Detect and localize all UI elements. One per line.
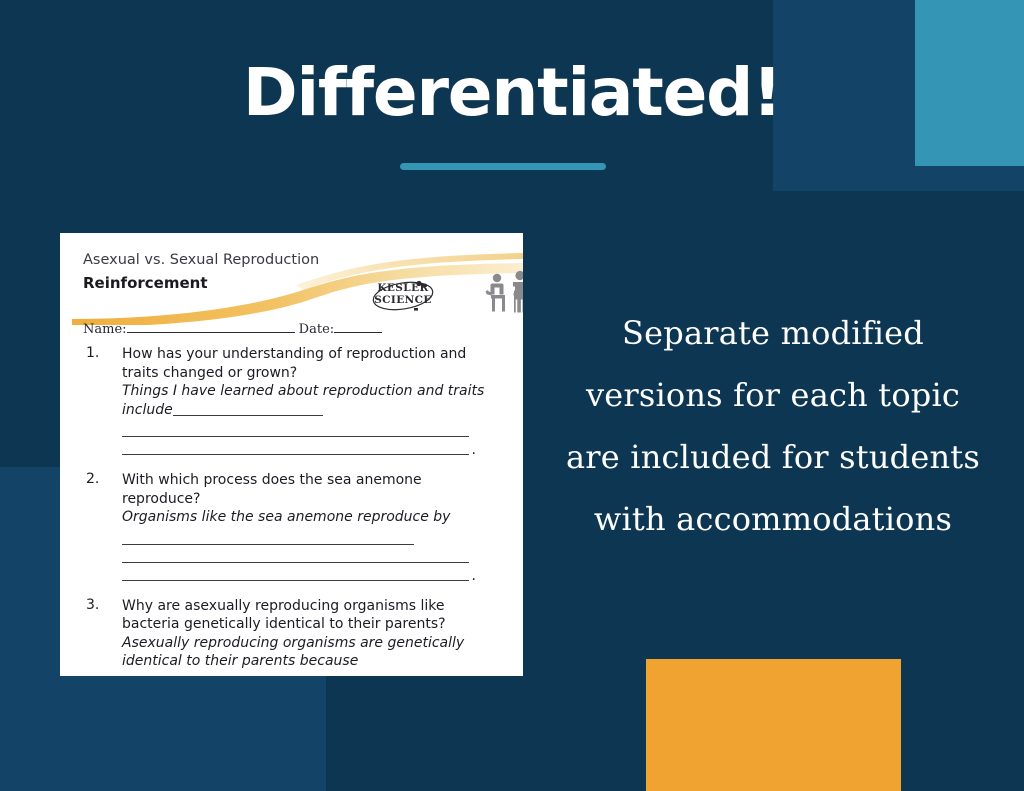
slide-canvas: Differentiated! Separate modified versio… — [0, 0, 1024, 791]
date-label: Date: — [299, 322, 334, 337]
kesler-science-logo: KESLER SCIENCE — [370, 279, 436, 313]
question-number: 2. — [86, 471, 99, 487]
answer-blank-line — [122, 437, 469, 455]
question-sentence-stem: Asexually reproducing organisms are gene… — [122, 634, 503, 671]
question-number: 1. — [86, 345, 99, 361]
stem-inline-blank — [173, 403, 323, 416]
page-title: Differentiated! — [0, 52, 1024, 134]
teacher-student-icon — [484, 269, 523, 317]
question-prompt: How has your understanding of reproducti… — [122, 345, 503, 382]
logo-text-line2: SCIENCE — [370, 294, 436, 306]
worksheet-question-3: 3. Why are asexually reproducing organis… — [60, 597, 523, 671]
decorative-orange-block-bottom — [646, 659, 901, 791]
question-sentence-stem: Organisms like the sea anemone reproduce… — [122, 508, 503, 527]
answer-blank-line — [122, 545, 469, 563]
worksheet-question-2: 2. With which process does the sea anemo… — [60, 471, 523, 581]
name-blank-rule — [127, 321, 295, 333]
worksheet-question-1: 1. How has your understanding of reprodu… — [60, 345, 523, 455]
worksheet-preview-card: Asexual vs. Sexual Reproduction Reinforc… — [60, 233, 523, 676]
worksheet-header: Asexual vs. Sexual Reproduction Reinforc… — [60, 233, 523, 325]
slide-title-block: Differentiated! — [0, 52, 1024, 134]
answer-blank-line — [122, 419, 469, 437]
worksheet-question-list: 1. How has your understanding of reprodu… — [60, 345, 523, 676]
worksheet-doc-subtitle: Reinforcement — [83, 274, 208, 292]
title-underline-rule — [400, 163, 606, 170]
date-blank-rule — [334, 321, 382, 333]
worksheet-name-date-row: Name: Date: — [83, 321, 503, 337]
answer-blank-line — [122, 527, 414, 545]
question-prompt: With which process does the sea anemone … — [122, 471, 503, 508]
logo-text-line1: KESLER — [370, 282, 436, 294]
body-paragraph: Separate modified versions for each topi… — [556, 302, 990, 550]
question-prompt: Why are asexually reproducing organisms … — [122, 597, 503, 634]
name-label: Name: — [83, 322, 127, 337]
question-number: 3. — [86, 597, 99, 613]
answer-blank-line — [122, 563, 469, 581]
question-sentence-stem: Things I have learned about reproduction… — [122, 382, 503, 419]
worksheet-doc-title: Asexual vs. Sexual Reproduction — [83, 252, 319, 268]
